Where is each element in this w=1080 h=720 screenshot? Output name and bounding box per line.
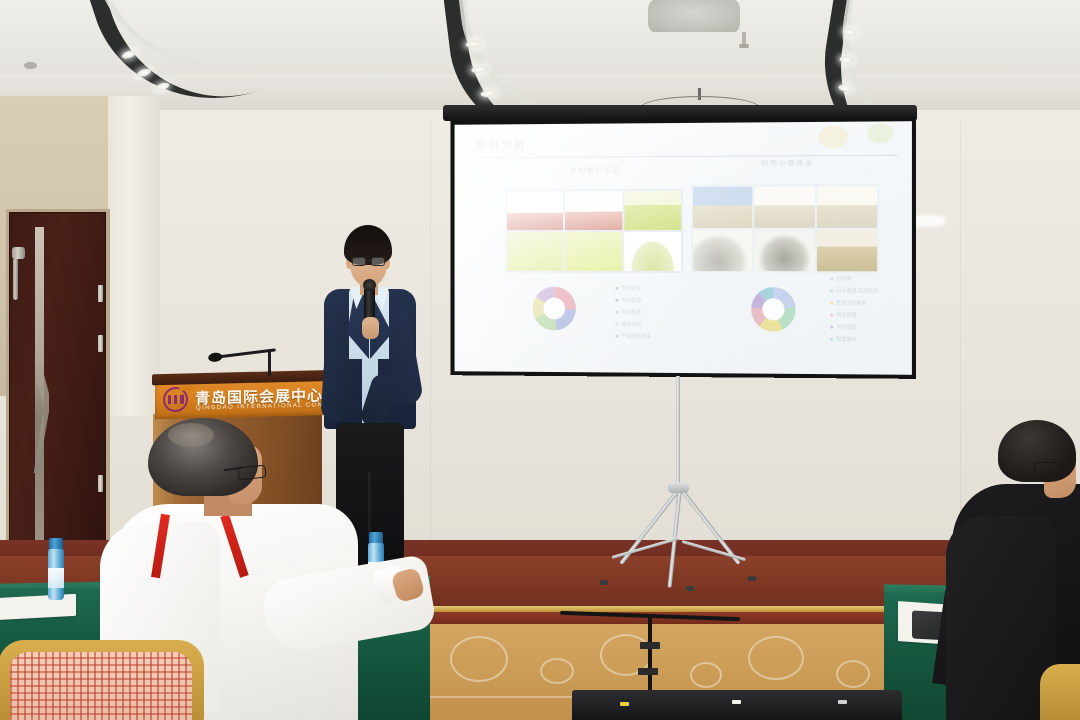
legend-swatch (830, 338, 833, 341)
slide-photo (565, 191, 622, 230)
chair-left (0, 640, 204, 720)
chair-right (1040, 664, 1080, 720)
legend-label: 生态农业 (621, 285, 641, 292)
slide-photo (817, 186, 877, 228)
donut-chart-right (751, 287, 795, 331)
downlight-icon (136, 67, 152, 78)
legend-swatch (615, 287, 618, 290)
legend-label: 乡村庭院 (836, 324, 856, 331)
slide-panel-heading-right: 特色小镇建设 (761, 158, 813, 168)
downlight-icon (838, 84, 853, 93)
presenter-hand (362, 317, 379, 339)
presenter-glasses-icon (352, 257, 366, 266)
microphone-head-icon (363, 279, 376, 291)
ceiling-stain-patch (648, 0, 740, 32)
legend-item: 乡村庭院 (830, 324, 878, 331)
legend-item: 配套服务 (830, 336, 878, 343)
photo-grid-left (505, 189, 683, 273)
legend-item: 山水资源 自然风光 (830, 287, 878, 294)
status-led (838, 700, 847, 704)
slide-panel-heading-left: 乡村振兴示范 (570, 165, 621, 175)
tripod-foot (748, 576, 756, 581)
tripod-foot (600, 580, 608, 585)
podium-microphone-stem (268, 352, 271, 376)
status-led (732, 700, 741, 704)
legend-swatch (830, 277, 833, 280)
legend-label: 基础设施 (621, 321, 641, 328)
legend-swatch (830, 326, 833, 329)
legend-label: 民俗文化体验 (836, 299, 867, 306)
photo-grid-right (691, 184, 879, 273)
door-handle[interactable] (13, 258, 18, 300)
slide-photo (507, 191, 563, 230)
legend-swatch (830, 314, 833, 317)
chair-upholstery (10, 652, 192, 720)
legend-label: 特色民宿 (836, 312, 856, 319)
legend-item: 乡村旅游 (615, 297, 651, 304)
av-equipment (572, 690, 902, 720)
attendee-right-glasses-icon (1034, 462, 1064, 476)
wall-column (108, 96, 160, 416)
projection-screen: 案例分析 乡村振兴示范 生态农业 (451, 117, 916, 379)
legend-item: 生态农业 (615, 285, 651, 292)
legend-swatch (615, 335, 618, 338)
slide-photo (693, 230, 753, 271)
legend-swatch (615, 311, 618, 314)
slide-photo (624, 232, 681, 271)
legend-left: 生态农业 乡村旅游 文化传承 基础设施 产业融合发展 (615, 285, 651, 345)
presenter-glasses-bridge (366, 260, 371, 261)
cable-tape (640, 642, 660, 649)
smoke-detector-icon (24, 62, 37, 69)
downlight-icon (121, 49, 137, 60)
room-door[interactable] (9, 212, 106, 560)
door-hinge-icon (98, 475, 103, 492)
sprinkler-head-icon (742, 32, 746, 46)
conference-room-photo: 青岛国际会展中心 QINGDAO INTERNATIONAL CONVENTIO… (0, 0, 1080, 720)
door-hinge-icon (98, 285, 103, 302)
projected-slide: 案例分析 乡村振兴示范 生态农业 (455, 121, 912, 375)
legend-swatch (615, 299, 618, 302)
bottle-cap (49, 538, 63, 549)
floor-cable (648, 616, 652, 700)
tripod-foot (686, 586, 694, 591)
legend-item: 文化传承 (615, 309, 651, 316)
slide-photo (817, 230, 877, 272)
door-hinge-icon (98, 335, 103, 352)
status-led (620, 702, 629, 706)
convention-center-logo-bars-icon (168, 395, 184, 404)
legend-label: 山水资源 自然风光 (836, 287, 878, 294)
legend-label: 古村落 (836, 275, 851, 282)
slide-decoration-icon (818, 126, 849, 148)
downlight-icon (480, 89, 497, 98)
legend-item: 产业融合发展 (615, 333, 651, 340)
attendee-left-hair-highlight (168, 423, 214, 447)
legend-swatch (830, 301, 833, 304)
legend-label: 乡村旅游 (621, 297, 641, 304)
legend-label: 配套服务 (836, 336, 856, 343)
slide-photo (507, 232, 563, 271)
legend-swatch (830, 289, 833, 292)
legend-item: 古村落 (830, 275, 878, 282)
bottle-label (48, 568, 64, 588)
legend-swatch (615, 323, 618, 326)
slide-decoration-icon (867, 123, 894, 143)
cable-tape (638, 668, 658, 675)
note-paper (0, 594, 76, 620)
legend-item: 民俗文化体验 (830, 299, 878, 306)
slide-photo (755, 230, 815, 271)
legend-item: 基础设施 (615, 321, 651, 328)
slide-title: 案例分析 (476, 136, 527, 152)
presenter-glasses-icon (371, 257, 385, 266)
legend-item: 特色民宿 (830, 312, 878, 319)
slide-title-rule (468, 155, 897, 158)
slide-photo (565, 232, 622, 271)
legend-label: 文化传承 (621, 309, 641, 316)
legend-label: 产业融合发展 (621, 333, 651, 340)
slide-photo (755, 186, 815, 227)
slide-photo (624, 191, 681, 230)
wall-seam (430, 120, 431, 560)
slide-photo (693, 187, 753, 228)
legend-right: 古村落 山水资源 自然风光 民俗文化体验 特色民宿 乡村庭院 (830, 275, 878, 348)
tripod-hub (668, 482, 689, 493)
donut-chart-left (533, 287, 576, 331)
